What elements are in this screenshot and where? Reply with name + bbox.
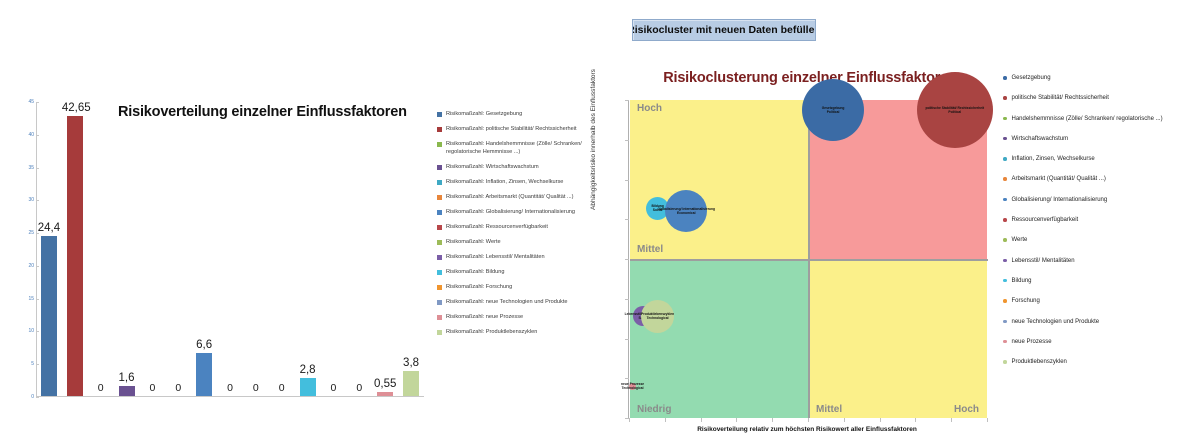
bar-legend-item-label: Risikomaßzahl: Ressourcenverfügbarkeit bbox=[446, 223, 548, 231]
bubble-chart-y-tick bbox=[625, 418, 629, 419]
legend-swatch-icon bbox=[1003, 259, 1007, 263]
bar-legend-item-label: Risikomaßzahl: Inflation, Zinsen, Wechse… bbox=[446, 178, 563, 186]
bubble-chart-x-tick bbox=[880, 418, 881, 422]
legend-swatch-icon bbox=[437, 315, 442, 320]
bubble-point-label: GesetzgebungPolitical bbox=[822, 106, 845, 114]
bar-chart-bar bbox=[67, 116, 83, 396]
bar-legend-item[interactable]: Risikomaßzahl: Wirtschaftswachstum bbox=[437, 163, 605, 171]
legend-swatch-icon bbox=[437, 195, 442, 200]
bubble-chart-y-axis-title: Abhängigkeitsrisiko innerhalb des Einflu… bbox=[590, 69, 597, 210]
bar-chart-y-tick-label: 15 bbox=[12, 299, 34, 300]
legend-swatch-icon bbox=[1003, 157, 1007, 161]
bar-chart-y-tick-mark bbox=[36, 364, 39, 365]
bubble-chart-y-tick bbox=[625, 378, 629, 379]
bubble-legend-item[interactable]: neue Prozesse bbox=[1003, 338, 1199, 346]
bar-legend-item-label: Risikomaßzahl: Globalisierung/ Internati… bbox=[446, 208, 575, 216]
bar-chart-value-label: 0 bbox=[321, 382, 347, 394]
bubble-legend-item[interactable]: Bildung bbox=[1003, 277, 1199, 285]
bar-legend-item-label: Risikomaßzahl: Lebensstil/ Mentalitäten bbox=[446, 253, 545, 261]
bubble-point-label: neue ProzesseTechnological bbox=[621, 382, 644, 390]
bar-legend-item[interactable]: Risikomaßzahl: politische Stabilität/ Re… bbox=[437, 125, 605, 133]
bubble-chart-x-tick bbox=[629, 418, 630, 422]
bar-chart-value-label: 24,4 bbox=[36, 222, 62, 234]
bar-chart-y-tick-mark bbox=[36, 168, 39, 169]
bar-chart-panel: Risikoverteilung einzelner Einflussfakto… bbox=[0, 78, 430, 428]
bar-chart-bar bbox=[41, 236, 57, 396]
legend-swatch-icon bbox=[1003, 340, 1007, 344]
bar-chart-y-tick-mark bbox=[36, 200, 39, 201]
bubble-chart-x-tick bbox=[844, 418, 845, 422]
bubble-point[interactable]: GesetzgebungPolitical bbox=[802, 79, 864, 141]
bubble-legend-item-label: Wirtschaftswachstum bbox=[1012, 135, 1069, 143]
fill-risk-cluster-button[interactable]: Risikocluster mit neuen Daten befüllen bbox=[632, 19, 816, 41]
bar-chart-y-axis bbox=[36, 102, 37, 397]
quadrant-label-y-high: Hoch bbox=[637, 103, 662, 114]
legend-swatch-icon bbox=[437, 165, 442, 170]
bubble-chart-panel: Risikoclusterung einzelner Einflussfakto… bbox=[600, 60, 1000, 448]
bubble-legend-item[interactable]: Wirtschaftswachstum bbox=[1003, 135, 1199, 143]
bubble-point[interactable]: neue ProzesseTechnological bbox=[629, 383, 636, 390]
quadrant-bottom-right bbox=[808, 259, 987, 418]
bubble-legend-item[interactable]: Forschung bbox=[1003, 297, 1199, 305]
bar-chart-y-tick-mark bbox=[36, 299, 39, 300]
quadrant-top-left bbox=[630, 100, 809, 259]
bar-legend-item[interactable]: Risikomaßzahl: Ressourcenverfügbarkeit bbox=[437, 223, 605, 231]
bar-legend-item-label: Risikomaßzahl: politische Stabilität/ Re… bbox=[446, 125, 577, 133]
bar-legend-item-label: Risikomaßzahl: Arbeitsmarkt (Quantität/ … bbox=[446, 193, 573, 201]
bubble-legend-item-label: Lebensstil/ Mentalitäten bbox=[1012, 257, 1075, 265]
legend-swatch-icon bbox=[1003, 198, 1007, 202]
legend-swatch-icon bbox=[437, 180, 442, 185]
bar-chart-x-axis bbox=[36, 396, 424, 397]
bar-chart-bar bbox=[300, 378, 316, 396]
bar-chart-y-tick-label: 30 bbox=[12, 200, 34, 201]
legend-swatch-icon bbox=[1003, 320, 1007, 324]
bubble-chart-x-axis-title: Risikoverteilung relativ zum höchsten Ri… bbox=[628, 426, 986, 433]
legend-swatch-icon bbox=[437, 300, 442, 305]
legend-swatch-icon bbox=[1003, 117, 1007, 121]
bar-legend-item[interactable]: Risikomaßzahl: neue Prozesse bbox=[437, 313, 605, 321]
bubble-chart-x-tick bbox=[665, 418, 666, 422]
legend-swatch-icon bbox=[437, 127, 442, 132]
legend-swatch-icon bbox=[437, 225, 442, 230]
bar-legend-item-label: Risikomaßzahl: Forschung bbox=[446, 283, 512, 291]
bubble-legend-item-label: Bildung bbox=[1012, 277, 1032, 285]
legend-swatch-icon bbox=[437, 255, 442, 260]
bubble-legend-item-label: Forschung bbox=[1012, 297, 1040, 305]
bubble-legend-item[interactable]: Werte bbox=[1003, 236, 1199, 244]
bubble-point[interactable]: politische Stabilität/ RechtssicherheitP… bbox=[917, 72, 993, 148]
bar-chart-y-tick-mark bbox=[36, 331, 39, 332]
bubble-legend-item[interactable]: Handelshemmnisse (Zölle/ Schranken/ rego… bbox=[1003, 115, 1199, 123]
bar-chart-value-label: 6,6 bbox=[191, 339, 217, 351]
bar-chart-bar bbox=[403, 371, 419, 396]
legend-swatch-icon bbox=[437, 330, 442, 335]
bar-chart-y-tick-label: 10 bbox=[12, 331, 34, 332]
legend-swatch-icon bbox=[1003, 279, 1007, 283]
legend-swatch-icon bbox=[1003, 96, 1007, 100]
bubble-legend-item-label: Werte bbox=[1012, 236, 1028, 244]
legend-swatch-icon bbox=[1003, 177, 1007, 181]
bar-legend-item[interactable]: Risikomaßzahl: Forschung bbox=[437, 283, 605, 291]
bubble-chart-y-tick bbox=[625, 339, 629, 340]
bar-legend-item[interactable]: Risikomaßzahl: Gesetzgebung bbox=[437, 110, 605, 118]
bar-chart-bar bbox=[119, 386, 135, 396]
bubble-chart-y-tick bbox=[625, 140, 629, 141]
quadrant-label-x-mid: Mittel bbox=[816, 404, 842, 415]
bubble-chart-x-tick bbox=[951, 418, 952, 422]
bubble-point[interactable]: ProduktlebenszyklenTechnological bbox=[641, 300, 674, 333]
bar-legend-item-label: Risikomaßzahl: Gesetzgebung bbox=[446, 110, 522, 118]
bar-legend-item[interactable]: Risikomaßzahl: Produktlebenszyklen bbox=[437, 328, 605, 336]
bar-legend-item[interactable]: Risikomaßzahl: neue Technologien und Pro… bbox=[437, 298, 605, 306]
bar-chart-value-label: 0 bbox=[139, 382, 165, 394]
bubble-legend-item-label: neue Prozesse bbox=[1012, 338, 1052, 346]
legend-swatch-icon bbox=[1003, 299, 1007, 303]
bar-legend-item-label: Risikomaßzahl: Bildung bbox=[446, 268, 504, 276]
quadrant-bottom-left bbox=[630, 259, 809, 418]
bubble-legend-item-label: Inflation, Zinsen, Wechselkurse bbox=[1012, 155, 1095, 163]
bar-legend-item[interactable]: Risikomaßzahl: Inflation, Zinsen, Wechse… bbox=[437, 178, 605, 186]
bar-chart-value-label: 0 bbox=[243, 382, 269, 394]
legend-swatch-icon bbox=[1003, 238, 1007, 242]
bar-chart-value-label: 0 bbox=[217, 382, 243, 394]
bar-legend-item-label: Risikomaßzahl: Werte bbox=[446, 238, 501, 246]
bubble-chart-y-tick bbox=[625, 259, 629, 260]
bar-legend-item[interactable]: Risikomaßzahl: Werte bbox=[437, 238, 605, 246]
bubble-chart-y-tick bbox=[625, 219, 629, 220]
legend-swatch-icon bbox=[437, 112, 442, 117]
bar-legend-item[interactable]: Risikomaßzahl: Arbeitsmarkt (Quantität/ … bbox=[437, 193, 605, 201]
bubble-legend-item-label: Globalisierung/ Internationalisierung bbox=[1012, 196, 1108, 204]
bar-chart-y-tick-label: 25 bbox=[12, 233, 34, 234]
bar-chart-value-label: 0 bbox=[269, 382, 295, 394]
bubble-legend-item-label: Gesetzgebung bbox=[1012, 74, 1051, 82]
legend-swatch-icon bbox=[1003, 137, 1007, 141]
legend-swatch-icon bbox=[437, 270, 442, 275]
bubble-chart-x-tick bbox=[772, 418, 773, 422]
bubble-point-label: Globalisierung/ InternationalisierungEco… bbox=[658, 207, 716, 215]
bubble-chart-legend: Gesetzgebungpolitische Stabilität/ Recht… bbox=[1003, 74, 1199, 378]
bubble-legend-item[interactable]: Inflation, Zinsen, Wechselkurse bbox=[1003, 155, 1199, 163]
bubble-chart-y-tick bbox=[625, 100, 629, 101]
bubble-chart-x-tick bbox=[987, 418, 988, 422]
bar-chart-y-tick-mark bbox=[36, 102, 39, 103]
bubble-legend-item-label: Handelshemmnisse (Zölle/ Schranken/ rego… bbox=[1012, 115, 1163, 123]
legend-swatch-icon bbox=[1003, 218, 1007, 222]
legend-swatch-icon bbox=[1003, 360, 1007, 364]
bar-chart-value-label: 2,8 bbox=[295, 364, 321, 376]
bar-legend-item[interactable]: Risikomaßzahl: Lebensstil/ Mentalitäten bbox=[437, 253, 605, 261]
bubble-legend-item[interactable]: Globalisierung/ Internationalisierung bbox=[1003, 196, 1199, 204]
bar-chart-plot: 454035302520151050 24,442,6501,6006,6000… bbox=[36, 102, 424, 397]
bar-chart-y-tick-label: 20 bbox=[12, 266, 34, 267]
bubble-chart-x-tick bbox=[915, 418, 916, 422]
bubble-legend-item-label: Arbeitsmarkt (Quantität/ Qualität ...) bbox=[1012, 175, 1106, 183]
bar-legend-item-label: Risikomaßzahl: Wirtschaftswachstum bbox=[446, 163, 539, 171]
bubble-legend-item-label: Produktlebenszyklen bbox=[1012, 358, 1067, 366]
bubble-chart-x-tick bbox=[701, 418, 702, 422]
bubble-chart-x-tick bbox=[736, 418, 737, 422]
legend-swatch-icon bbox=[437, 142, 442, 147]
bar-chart-value-label: 0,55 bbox=[372, 378, 398, 390]
quadrant-label-y-mid: Mittel bbox=[637, 244, 663, 255]
quadrant-horizontal-divider bbox=[630, 259, 988, 261]
bar-chart-bar bbox=[196, 353, 212, 396]
legend-swatch-icon bbox=[437, 240, 442, 245]
bar-chart-y-tick-label: 45 bbox=[12, 102, 34, 103]
bubble-legend-item[interactable]: neue Technologien und Produkte bbox=[1003, 318, 1199, 326]
bar-chart-value-label: 3,8 bbox=[398, 357, 424, 369]
bubble-chart-y-tick bbox=[625, 180, 629, 181]
bar-chart-value-label: 0 bbox=[165, 382, 191, 394]
bubble-legend-item[interactable]: Gesetzgebung bbox=[1003, 74, 1199, 82]
bubble-legend-item[interactable]: Ressourcenverfügbarkeit bbox=[1003, 216, 1199, 224]
bar-chart-value-label: 1,6 bbox=[114, 372, 140, 384]
quadrant-label-x-high: Hoch bbox=[954, 404, 979, 415]
bar-chart-value-label: 0 bbox=[88, 382, 114, 394]
bubble-point-label: ProduktlebenszyklenTechnological bbox=[641, 312, 674, 320]
bubble-chart-x-tick bbox=[808, 418, 809, 422]
bar-legend-item-label: Risikomaßzahl: Produktlebenszyklen bbox=[446, 328, 537, 336]
legend-swatch-icon bbox=[437, 210, 442, 215]
bar-chart-y-tick-mark bbox=[36, 135, 39, 136]
bar-chart-value-label: 42,65 bbox=[62, 102, 88, 114]
bar-legend-item-label: Risikomaßzahl: neue Prozesse bbox=[446, 313, 523, 321]
bar-chart-y-tick-label: 35 bbox=[12, 168, 34, 169]
bubble-legend-item-label: politische Stabilität/ Rechtssicherheit bbox=[1012, 94, 1109, 102]
quadrant-label-x-low: Niedrig bbox=[637, 404, 671, 415]
bar-legend-item[interactable]: Risikomaßzahl: Handelshemmnisse (Zölle/ … bbox=[437, 140, 605, 156]
bar-chart-y-tick-mark bbox=[36, 266, 39, 267]
bar-legend-item-label: Risikomaßzahl: Handelshemmnisse (Zölle/ … bbox=[446, 140, 605, 156]
bar-chart-bar bbox=[377, 392, 393, 396]
bar-legend-item[interactable]: Risikomaßzahl: Bildung bbox=[437, 268, 605, 276]
bar-chart-value-label: 0 bbox=[346, 382, 372, 394]
bar-chart-y-tick-label: 5 bbox=[12, 364, 34, 365]
bubble-legend-item-label: neue Technologien und Produkte bbox=[1012, 318, 1100, 326]
bar-legend-item-label: Risikomaßzahl: neue Technologien und Pro… bbox=[446, 298, 567, 306]
bubble-point-label: politische Stabilität/ RechtssicherheitP… bbox=[925, 106, 984, 114]
bubble-chart-y-tick bbox=[625, 299, 629, 300]
bar-chart-y-tick-label: 0 bbox=[12, 397, 34, 398]
fill-risk-cluster-button-label: Risikocluster mit neuen Daten befüllen bbox=[632, 24, 816, 36]
bar-chart-legend: Risikomaßzahl: GesetzgebungRisikomaßzahl… bbox=[437, 110, 605, 343]
bar-chart-y-tick-mark bbox=[36, 397, 39, 398]
legend-swatch-icon bbox=[437, 285, 442, 290]
bubble-legend-item[interactable]: Lebensstil/ Mentalitäten bbox=[1003, 257, 1199, 265]
bubble-legend-item[interactable]: politische Stabilität/ Rechtssicherheit bbox=[1003, 94, 1199, 102]
bubble-legend-item-label: Ressourcenverfügbarkeit bbox=[1012, 216, 1079, 224]
bubble-chart-plot: Hoch Mittel Niedrig Mittel Hoch Gesetzge… bbox=[628, 100, 987, 418]
bar-legend-item[interactable]: Risikomaßzahl: Globalisierung/ Internati… bbox=[437, 208, 605, 216]
bubble-legend-item[interactable]: Arbeitsmarkt (Quantität/ Qualität ...) bbox=[1003, 175, 1199, 183]
legend-swatch-icon bbox=[1003, 76, 1007, 80]
bubble-legend-item[interactable]: Produktlebenszyklen bbox=[1003, 358, 1199, 366]
bar-chart-y-tick-label: 40 bbox=[12, 135, 34, 136]
